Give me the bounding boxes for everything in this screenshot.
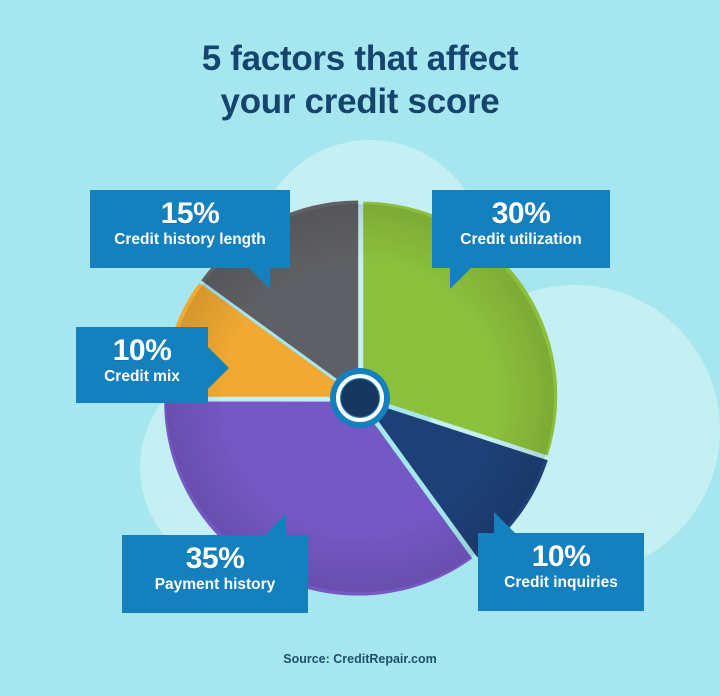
callout-percent: 30%: [444, 199, 598, 229]
callout-label: Payment history: [134, 577, 296, 593]
callout-label: Credit utilization: [444, 232, 598, 248]
callout-credit-mix[interactable]: 10% Credit mix: [76, 327, 208, 403]
page-title: 5 factors that affect your credit score: [0, 38, 720, 123]
callout-percent: 10%: [88, 336, 196, 366]
callout-credit-utilization[interactable]: 30% Credit utilization: [432, 190, 610, 268]
hub-inner-disc: [341, 379, 379, 417]
callout-credit-history-length[interactable]: 15% Credit history length: [90, 190, 290, 268]
callout-pointer-icon: [249, 268, 270, 289]
callout-pointer-icon: [208, 347, 229, 389]
callout-label: Credit inquiries: [490, 575, 632, 591]
callout-pointer-icon: [450, 268, 471, 289]
callout-percent: 35%: [134, 544, 296, 574]
callout-percent: 10%: [490, 542, 632, 572]
page-title-line-2: your credit score: [0, 81, 720, 124]
infographic-canvas: 5 factors that affect your credit score …: [0, 0, 720, 696]
callout-pointer-icon: [494, 512, 515, 533]
callout-credit-inquiries[interactable]: 10% Credit inquiries: [478, 533, 644, 611]
callout-percent: 15%: [102, 199, 278, 229]
callout-pointer-icon: [265, 514, 286, 535]
source-attribution: Source: CreditRepair.com: [0, 652, 720, 666]
callout-label: Credit history length: [102, 232, 278, 248]
callout-label: Credit mix: [88, 369, 196, 385]
callout-payment-history[interactable]: 35% Payment history: [122, 535, 308, 613]
page-title-line-1: 5 factors that affect: [0, 38, 720, 81]
